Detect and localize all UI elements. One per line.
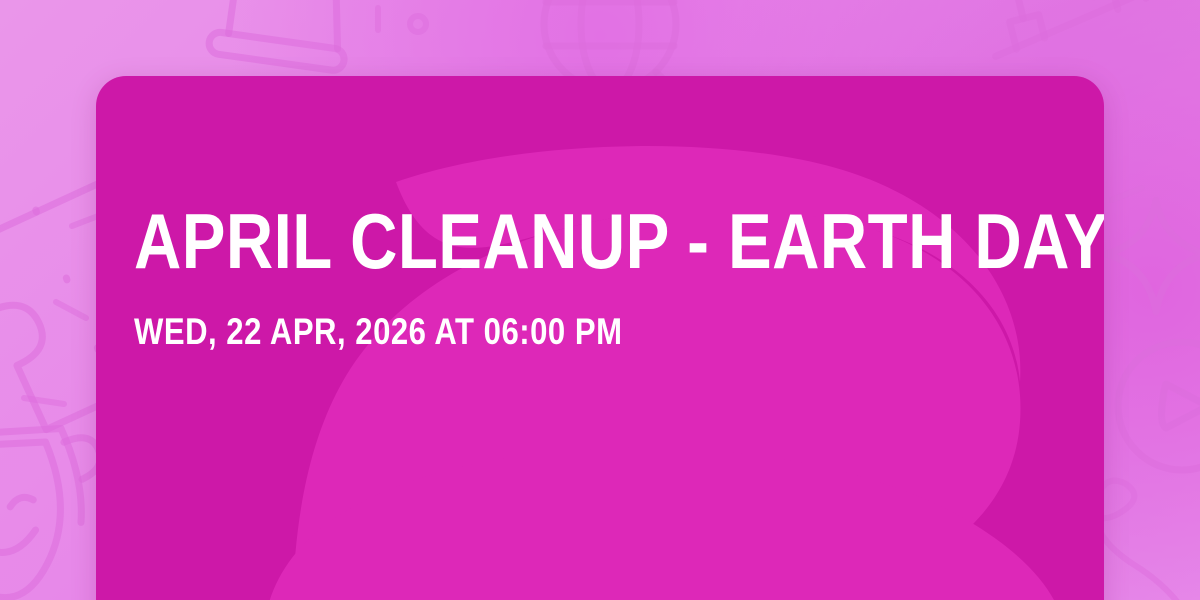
sparkle-icon bbox=[1112, 196, 1200, 326]
confetti-icon bbox=[1108, 92, 1200, 212]
event-datetime: Wed, 22 Apr, 2026 at 06:00 PM bbox=[134, 313, 898, 350]
event-card[interactable]: April Cleanup - Earth Day Wed, 22 Apr, 2… bbox=[96, 76, 1104, 600]
stage-lights-icon bbox=[966, 0, 1196, 88]
event-title: April Cleanup - Earth Day bbox=[134, 204, 898, 279]
podium-microphone-icon bbox=[174, 0, 384, 84]
share-card-canvas: April Cleanup - Earth Day Wed, 22 Apr, 2… bbox=[0, 0, 1200, 600]
event-card-text-block: April Cleanup - Earth Day Wed, 22 Apr, 2… bbox=[134, 204, 1044, 350]
balloon-string-icon bbox=[1096, 474, 1200, 600]
